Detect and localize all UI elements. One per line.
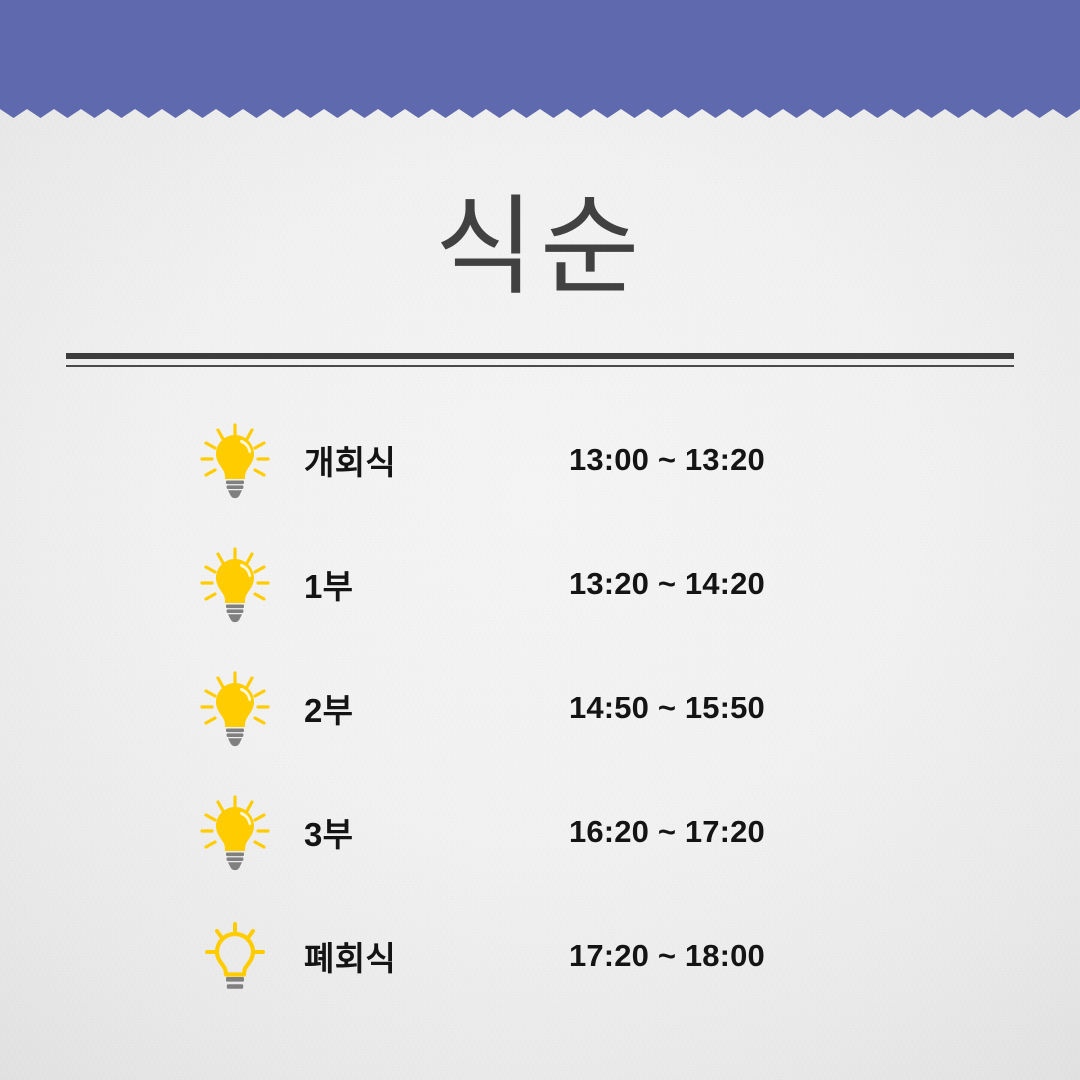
program-row-time: 16:20 ~ 17:20 [569, 814, 765, 850]
program-row-label: 개회식 [304, 436, 396, 484]
program-row-label: 2부 [304, 684, 353, 732]
program-row-time: 14:50 ~ 15:50 [569, 690, 765, 726]
lightbulb-filled-icon [198, 420, 272, 500]
divider-thick-rule [66, 353, 1014, 359]
lightbulb-filled-icon [198, 668, 272, 748]
title-divider [66, 353, 1014, 373]
lightbulb-filled-icon [197, 544, 273, 624]
program-row-time: 13:20 ~ 14:20 [569, 566, 765, 602]
program-row-label: 폐회식 [304, 932, 396, 980]
lightbulb-filled-icon [197, 420, 273, 500]
program-row-time: 13:00 ~ 13:20 [569, 442, 765, 478]
program-poster: 식순 개회식13:00 ~ 13:20 [0, 0, 1080, 1080]
program-row-label: 3부 [304, 808, 353, 856]
divider-thin-rule [66, 365, 1014, 367]
program-list: 개회식13:00 ~ 13:20 1부13:20 ~ 14:20 [0, 398, 1080, 1018]
program-row: 2부14:50 ~ 15:50 [0, 646, 1080, 770]
top-purple-banner [0, 0, 1080, 118]
program-row: 3부16:20 ~ 17:20 [0, 770, 1080, 894]
lightbulb-filled-icon [198, 792, 272, 872]
program-row: 1부13:20 ~ 14:20 [0, 522, 1080, 646]
lightbulb-filled-icon [197, 668, 273, 748]
lightbulb-filled-icon [197, 792, 273, 872]
lightbulb-outline-icon [197, 916, 273, 996]
lightbulb-filled-icon [198, 544, 272, 624]
program-row-time: 17:20 ~ 18:00 [569, 938, 765, 974]
page-title: 식순 [0, 185, 1080, 309]
program-row: 개회식13:00 ~ 13:20 [0, 398, 1080, 522]
lightbulb-outline-icon [198, 916, 272, 996]
program-row: 폐회식17:20 ~ 18:00 [0, 894, 1080, 1018]
program-row-label: 1부 [304, 560, 353, 608]
torn-paper-zigzag-edge [0, 0, 1080, 118]
